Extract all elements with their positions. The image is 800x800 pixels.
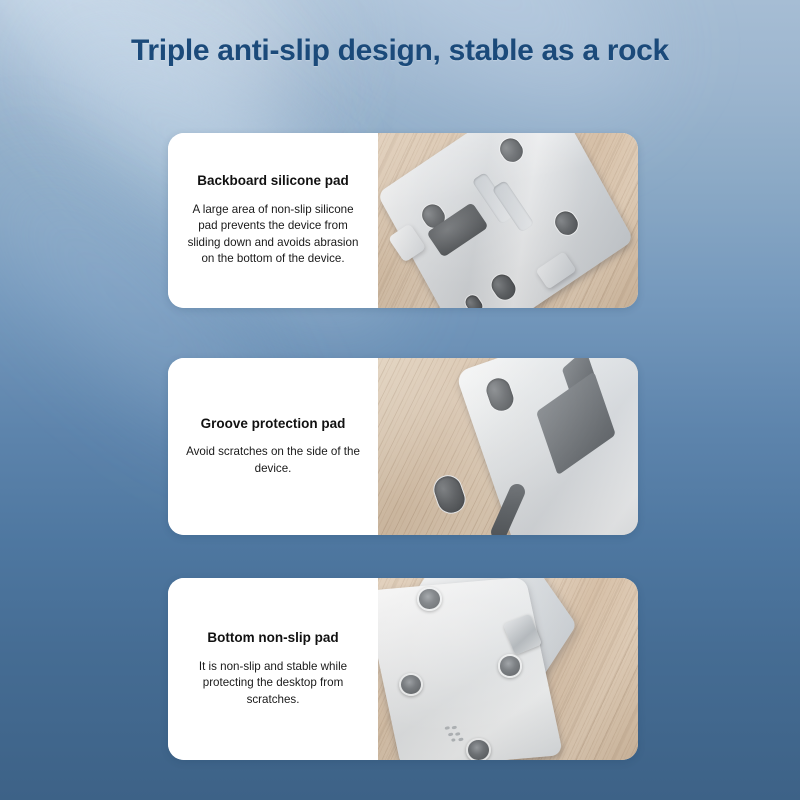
bottom-non-slip-pad-bottom xyxy=(466,738,491,760)
feature-card-text-panel: Backboard silicone pad A large area of n… xyxy=(168,133,378,308)
feature-card-heading: Backboard silicone pad xyxy=(197,173,349,190)
feature-card-bottom-non-slip-pad: Bottom non-slip pad It is non-slip and s… xyxy=(168,578,638,760)
feature-card-body: A large area of non-slip silicone pad pr… xyxy=(182,202,364,268)
page-title: Triple anti-slip design, stable as a roc… xyxy=(0,34,800,68)
feature-card-body: Avoid scratches on the side of the devic… xyxy=(182,444,364,477)
infographic-page: Triple anti-slip design, stable as a roc… xyxy=(0,0,800,800)
feature-card-photo xyxy=(378,358,638,535)
feature-card-heading: Groove protection pad xyxy=(201,416,346,433)
bottom-non-slip-pad-top-left xyxy=(417,587,442,611)
bottom-non-slip-pad-center xyxy=(498,654,523,678)
feature-card-text-panel: Groove protection pad Avoid scratches on… xyxy=(168,358,378,535)
feature-card-text-panel: Bottom non-slip pad It is non-slip and s… xyxy=(168,578,378,760)
feature-card-photo xyxy=(378,133,638,308)
feature-card-groove-protection-pad: Groove protection pad Avoid scratches on… xyxy=(168,358,638,535)
feature-card-backboard-silicone-pad: Backboard silicone pad A large area of n… xyxy=(168,133,638,308)
feature-card-body: It is non-slip and stable while protecti… xyxy=(182,659,364,708)
vent-dot-cluster xyxy=(444,724,465,744)
background-light-streak-5 xyxy=(239,0,681,155)
feature-card-heading: Bottom non-slip pad xyxy=(207,630,338,647)
feature-card-photo xyxy=(378,578,638,760)
